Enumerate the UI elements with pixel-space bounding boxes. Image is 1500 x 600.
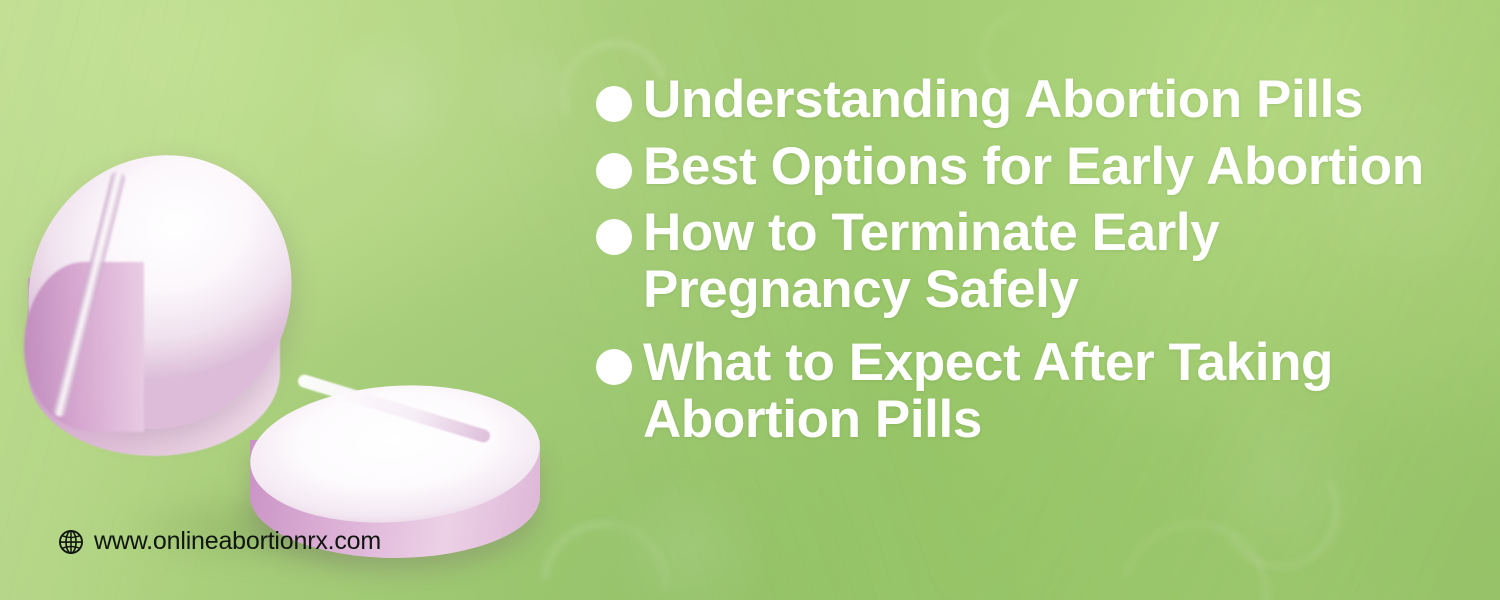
- list-item: How to Terminate Early Pregnancy Safely: [596, 205, 1486, 318]
- headline-list: Understanding Abortion Pills Best Option…: [596, 72, 1486, 464]
- website-url-bar[interactable]: www.onlineabortionrx.com: [58, 527, 381, 556]
- globe-icon: [58, 529, 84, 555]
- list-item-label: What to Expect After Taking Abortion Pil…: [643, 335, 1486, 448]
- bullet-icon: [596, 86, 632, 122]
- promo-banner: Understanding Abortion Pills Best Option…: [0, 0, 1500, 600]
- bullet-icon: [596, 219, 632, 255]
- list-item-label: Understanding Abortion Pills: [643, 72, 1363, 129]
- list-item: What to Expect After Taking Abortion Pil…: [596, 335, 1486, 448]
- website-url-text: www.onlineabortionrx.com: [94, 527, 381, 556]
- list-item-label: Best Options for Early Abortion: [643, 139, 1424, 196]
- pill-illustration: [18, 150, 558, 520]
- bullet-icon: [596, 349, 632, 385]
- bullet-icon: [596, 153, 632, 189]
- list-item-label: How to Terminate Early Pregnancy Safely: [643, 205, 1486, 318]
- list-item: Best Options for Early Abortion: [596, 139, 1486, 196]
- list-item: Understanding Abortion Pills: [596, 72, 1486, 129]
